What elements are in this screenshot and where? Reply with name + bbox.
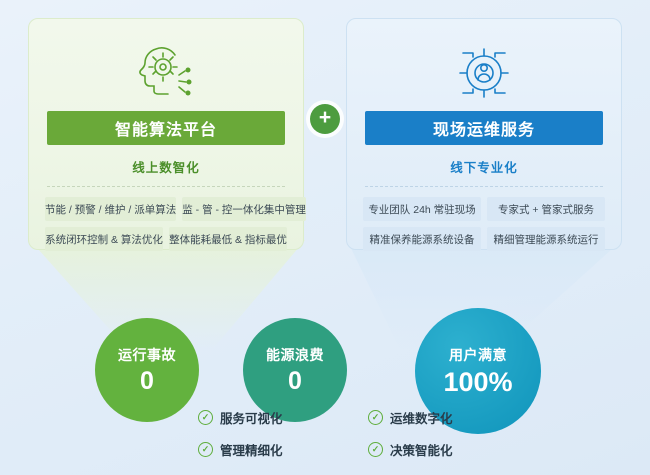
check-circle-icon: ✓ <box>198 410 213 425</box>
list-item: ✓ 管理精细化 <box>198 440 368 459</box>
circle-value: 0 <box>288 367 302 396</box>
check-circle-icon: ✓ <box>368 410 383 425</box>
panel-title: 智能算法平台 <box>47 111 285 145</box>
panel-title: 现场运维服务 <box>365 111 603 145</box>
top-panels: 智能算法平台 线上数智化 节能 / 预警 / 维护 / 派单算法 监 - 管 -… <box>28 18 622 250</box>
check-label: 运维数字化 <box>390 408 453 427</box>
tag: 专家式 + 管家式服务 <box>487 197 605 221</box>
plus-connector-badge: + <box>310 104 340 134</box>
check-label: 服务可视化 <box>220 408 283 427</box>
panel-subtitle: 线上数智化 <box>29 157 303 176</box>
tag-row: 精准保养能源系统设备 精细管理能源系统运行 <box>363 227 605 251</box>
list-item: ✓ 运维数字化 <box>368 408 538 427</box>
panel-subtitle: 线下专业化 <box>347 157 621 176</box>
panel-divider <box>47 186 285 187</box>
circle-operation-accidents: 运行事故 0 <box>95 318 199 422</box>
circle-label: 运行事故 <box>118 345 176 365</box>
list-item: ✓ 服务可视化 <box>198 408 368 427</box>
tag: 监 - 管 - 控一体化集中管理 <box>182 197 306 221</box>
panel-tag-rows: 专业团队 24h 常驻现场 专家式 + 管家式服务 精准保养能源系统设备 精细管… <box>363 197 605 251</box>
circle-value: 100% <box>443 367 512 398</box>
panel-tag-rows: 节能 / 预警 / 维护 / 派单算法 监 - 管 - 控一体化集中管理 系统闭… <box>45 197 287 251</box>
circle-value: 0 <box>140 367 154 396</box>
circle-energy-waste: 能源浪费 0 <box>243 318 347 422</box>
tag-row: 专业团队 24h 常驻现场 专家式 + 管家式服务 <box>363 197 605 221</box>
circle-label: 用户满意 <box>449 345 507 365</box>
check-circle-icon: ✓ <box>368 442 383 457</box>
check-circle-icon: ✓ <box>198 442 213 457</box>
service-target-icon <box>347 41 621 103</box>
panel-algorithm-platform: 智能算法平台 线上数智化 节能 / 预警 / 维护 / 派单算法 监 - 管 -… <box>28 18 304 250</box>
tag: 整体能耗最低 & 指标最优 <box>169 227 287 251</box>
tag: 系统闭环控制 & 算法优化 <box>45 227 163 251</box>
benefits-checklist: ✓ 服务可视化 ✓ 运维数字化 ✓ 管理精细化 ✓ 决策智能化 <box>198 408 538 459</box>
check-label: 决策智能化 <box>390 440 453 459</box>
tag: 专业团队 24h 常驻现场 <box>363 197 481 221</box>
brain-gear-icon <box>29 41 303 103</box>
panel-divider <box>365 186 603 187</box>
tag: 精准保养能源系统设备 <box>363 227 481 251</box>
tag-row: 系统闭环控制 & 算法优化 整体能耗最低 & 指标最优 <box>45 227 287 251</box>
tag: 精细管理能源系统运行 <box>487 227 605 251</box>
list-item: ✓ 决策智能化 <box>368 440 538 459</box>
panel-onsite-service: 现场运维服务 线下专业化 专业团队 24h 常驻现场 专家式 + 管家式服务 精… <box>346 18 622 250</box>
tag: 节能 / 预警 / 维护 / 派单算法 <box>45 197 176 221</box>
circle-label: 能源浪费 <box>266 345 324 365</box>
tag-row: 节能 / 预警 / 维护 / 派单算法 监 - 管 - 控一体化集中管理 <box>45 197 287 221</box>
check-label: 管理精细化 <box>220 440 283 459</box>
